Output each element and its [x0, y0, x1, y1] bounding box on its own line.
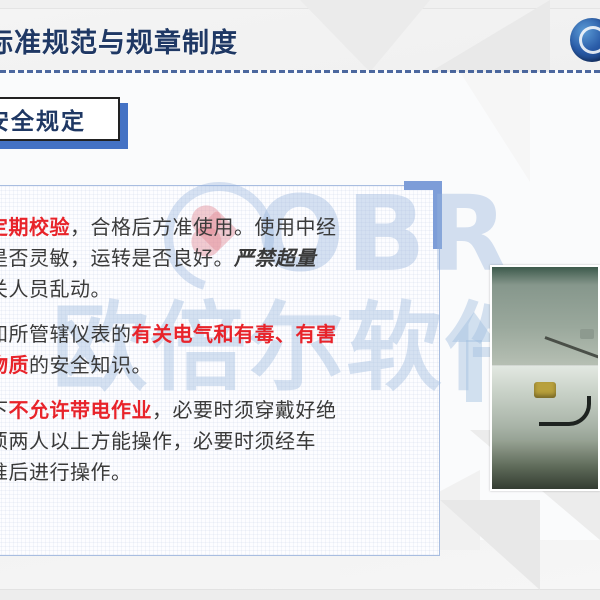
panel-corner-bracket — [404, 181, 442, 249]
paragraph-1-line2-emphasis: 严禁超量 — [234, 246, 316, 270]
paragraph-2-line2-post: 的安全知识。 — [29, 353, 152, 377]
paragraph-2-line1-pre: 知所管辖仪表的 — [0, 322, 132, 346]
paragraph-1-highlight: 定期校验 — [0, 215, 70, 239]
polygon-facet-1 — [430, 0, 550, 72]
industrial-pipe-valve-photo — [490, 265, 600, 491]
title-divider — [0, 70, 600, 73]
paragraph-3-line1-post: ，必要时须穿戴好绝 — [152, 398, 337, 422]
photo-foreground — [492, 440, 598, 489]
paragraph-1-line2-pre: 是否灵敏，运转是否良好。 — [0, 246, 234, 270]
paragraph-3-line1-pre: 下 — [0, 398, 9, 422]
paragraph-3-line3: 准后进行操作。 — [0, 460, 132, 484]
subtitle-chip-box: 安全规定 — [0, 97, 120, 141]
paragraph-1-line3: 关人员乱动。 — [0, 277, 111, 301]
paragraph-3: 下不允许带电作业，必要时须穿戴好绝 须两人以上方能操作，必要时须经车 准后进行操… — [0, 395, 408, 488]
paragraph-1-post: ，合格后方准使用。使用中经 — [70, 215, 337, 239]
polygon-facet-6 — [440, 500, 540, 590]
body-text-block: 定期校验，合格后方准使用。使用中经 是否灵敏，运转是否良好。严禁超量 关人员乱动… — [0, 212, 408, 499]
subtitle-text: 安全规定 — [0, 102, 86, 136]
polygon-facet-2 — [300, 0, 430, 72]
paragraph-2-line1-highlight: 有关电气和有毒、有害 — [132, 322, 337, 346]
paragraph-1: 定期校验，合格后方准使用。使用中经 是否灵敏，运转是否良好。严禁超量 关人员乱动… — [0, 212, 408, 305]
subtitle-chip: 安全规定 — [0, 97, 122, 145]
paragraph-2-line2-highlight: 物质 — [0, 353, 29, 377]
paragraph-3-line1-highlight: 不允许带电作业 — [9, 398, 153, 422]
background-bottom-strip — [0, 589, 600, 600]
presentation-slide: 标准规范与规章制度 安全规定 OBR 欧倍尔软件 定期校验，合格后方准使用。使用… — [0, 0, 600, 600]
slide-title: 标准规范与规章制度 — [0, 21, 238, 60]
paragraph-3-line2: 须两人以上方能操作，必要时须经车 — [0, 429, 316, 453]
photo-nozzle — [580, 329, 594, 339]
paragraph-2: 知所管辖仪表的有关电气和有毒、有害 物质的安全知识。 — [0, 319, 408, 381]
polygon-facet-3 — [460, 72, 530, 182]
